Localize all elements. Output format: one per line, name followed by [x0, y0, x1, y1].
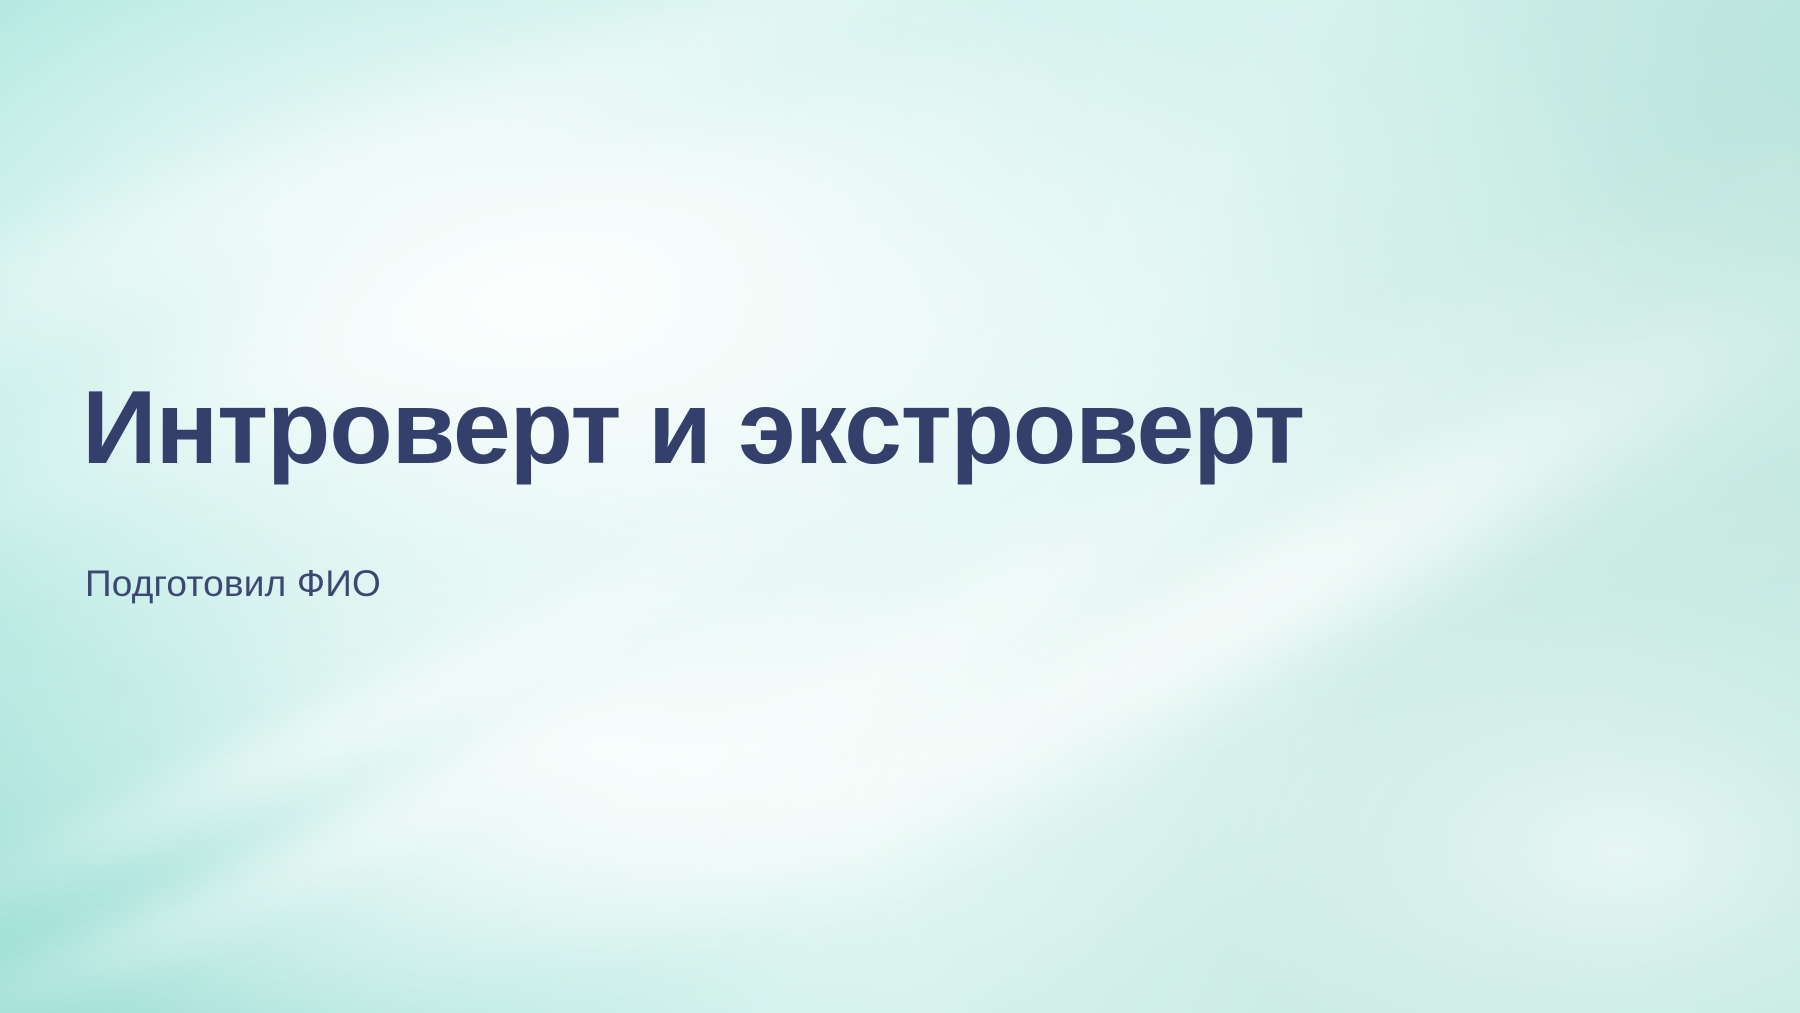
title-slide: Интроверт и экстроверт Подготовил ФИО — [0, 0, 1800, 1013]
slide-content: Интроверт и экстроверт Подготовил ФИО — [82, 0, 1702, 1013]
slide-subtitle-author: Подготовил ФИО — [85, 560, 381, 608]
page-title: Интроверт и экстроверт — [82, 372, 1304, 484]
